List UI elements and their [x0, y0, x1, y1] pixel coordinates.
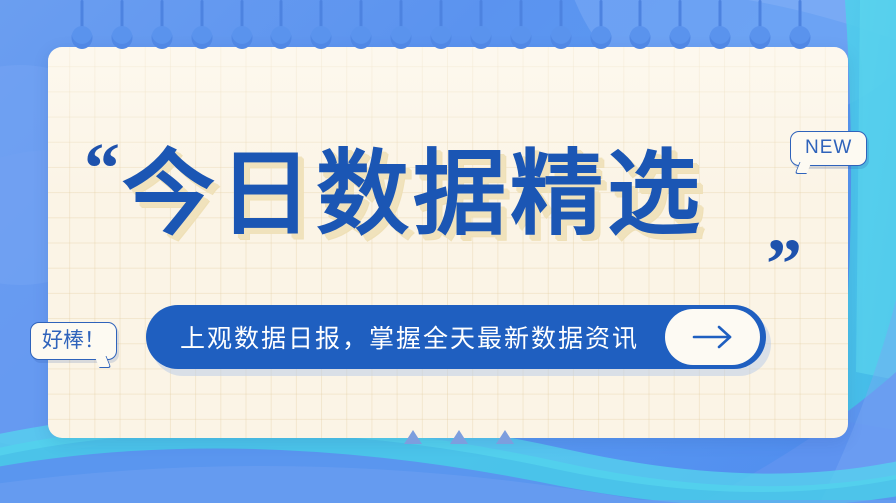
spiral-ring-bead [391, 26, 412, 49]
cheer-badge-label: 好棒！ [42, 328, 105, 352]
spiral-ring-bead [550, 26, 571, 49]
spiral-ring-bead [710, 26, 731, 49]
spiral-ring-bead [470, 26, 491, 49]
spiral-ring-bead [72, 26, 93, 49]
arrow-right-icon[interactable] [665, 309, 760, 365]
spiral-ring-bead [191, 26, 212, 49]
spiral-ring-bead [311, 26, 332, 49]
open-quote-mark: “ [84, 132, 118, 204]
decor-wave-blue [0, 448, 896, 503]
spiral-ring-bead [351, 26, 372, 49]
spiral-ring-bead [231, 26, 252, 49]
spiral-ring-bead [151, 26, 172, 49]
triangle-decoration [496, 430, 514, 444]
cheer-badge: 好棒！ [30, 322, 117, 360]
spiral-ring-bead [630, 26, 651, 49]
spiral-binding [0, 0, 896, 110]
cta-label: 上观数据日报，掌握全天最新数据资讯 [180, 319, 639, 355]
triangle-decoration-row [404, 430, 514, 444]
new-badge: NEW [790, 131, 867, 166]
spiral-ring-bead [510, 26, 531, 49]
page-title: 今日数据精选 [122, 148, 762, 241]
new-badge-label: NEW [805, 137, 852, 158]
spiral-ring-bead [111, 26, 132, 49]
spiral-ring-bead [431, 26, 452, 49]
triangle-decoration [450, 430, 468, 444]
cta-button[interactable]: 上观数据日报，掌握全天最新数据资讯 [146, 305, 766, 369]
triangle-decoration [404, 430, 422, 444]
spiral-ring-bead [670, 26, 691, 49]
spiral-ring-bead [790, 26, 811, 49]
banner-canvas: “ 今日数据精选 ” NEW 好棒！ 上观数据日报，掌握全天最新数据资讯 [0, 0, 896, 503]
spiral-ring-bead [590, 26, 611, 49]
close-quote-mark: ” [766, 228, 800, 300]
spiral-ring-bead [750, 26, 771, 49]
decor-wave-blue-2 [0, 466, 896, 503]
spiral-ring-bead [271, 26, 292, 49]
